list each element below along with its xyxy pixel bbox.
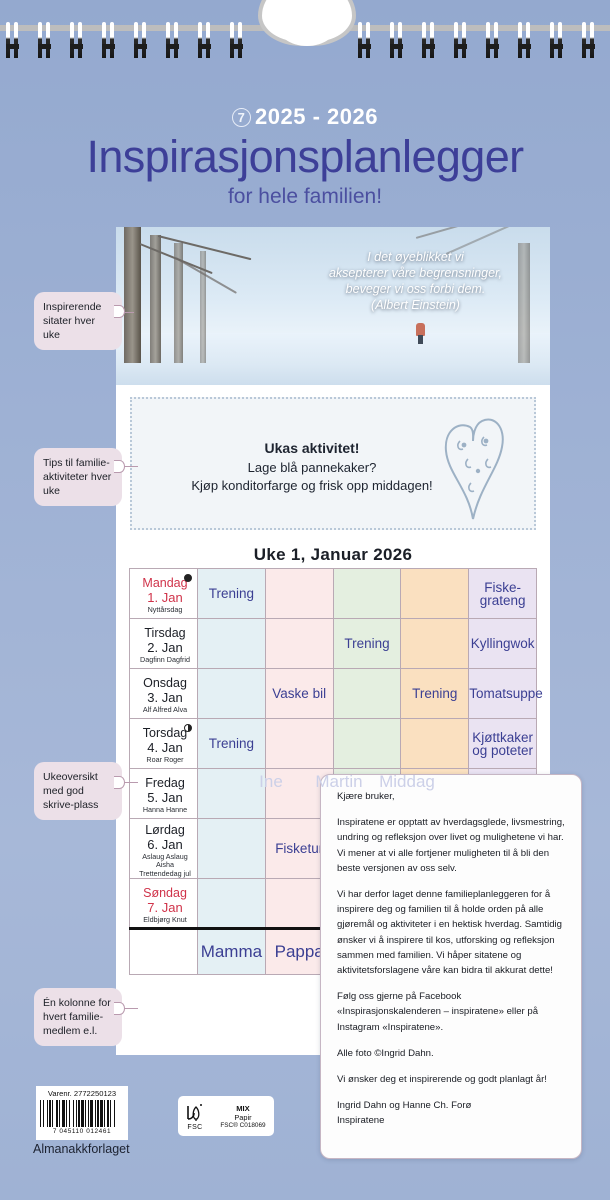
name-day: Nyttårsdag — [136, 606, 194, 614]
barcode-bars — [40, 1100, 124, 1127]
calendar-entry-cell[interactable] — [333, 569, 401, 619]
calendar-entry-cell[interactable] — [333, 669, 401, 719]
calendar-entry-cell[interactable] — [401, 619, 469, 669]
day-number: 7. Jan — [136, 900, 194, 915]
calendar-entry-cell[interactable] — [198, 619, 266, 669]
calendar-entry-cell[interactable] — [265, 619, 333, 669]
calendar-entry-cell[interactable]: Fiske-grateng — [469, 569, 537, 619]
spiral-coil — [6, 22, 19, 58]
seven-badge-icon: 7 — [232, 108, 251, 127]
fsc-papir-label: Papir — [212, 1113, 274, 1122]
name-day: Dagfinn Dagfrid — [136, 656, 194, 664]
name-row-spacer — [130, 929, 198, 975]
day-label-cell: Mandag1. JanNyttårsdag — [130, 569, 198, 619]
calendar-entry-cell[interactable]: Kjøttkakerog poteter — [469, 719, 537, 769]
calendar-entry-cell[interactable]: Trening — [198, 719, 266, 769]
day-number: 4. Jan — [136, 740, 194, 755]
callout-week-overview: Ukeoversikt med god skrive-plass — [34, 762, 122, 820]
calendar-row: Mandag1. JanNyttårsdagTreningFiske-grate… — [130, 569, 537, 619]
barcode-bar — [115, 1100, 117, 1127]
welcome-letter-overlay: Kjære bruker, Inspiratene er opptatt av … — [320, 774, 582, 1159]
day-label-cell: Onsdag3. JanAlf Alfred Alva — [130, 669, 198, 719]
year-range: 2025 - 2026 — [255, 104, 378, 129]
calendar-entry-cell[interactable] — [198, 819, 266, 879]
calendar-entry-cell[interactable] — [198, 769, 266, 819]
letter-signature-1: Ingrid Dahn og Hanne Ch. Forø — [337, 1098, 565, 1113]
spiral-coil — [358, 22, 371, 58]
calendar-entry-cell[interactable] — [265, 569, 333, 619]
callout-quotes-label: Inspirerende sitater hver uke — [43, 301, 101, 341]
family-member-name[interactable]: Mamma — [198, 929, 266, 975]
full-moon-icon — [184, 574, 192, 582]
winter-forest-photo: I det øyeblikket vi aksepterer våre begr… — [116, 227, 550, 385]
fsc-certification-box: FSC MIX Papir FSC® C018069 — [178, 1096, 274, 1136]
spiral-coil — [70, 22, 83, 58]
day-name: Tirsdag — [136, 626, 194, 640]
quote-line-1: I det øyeblikket vi — [293, 249, 538, 265]
page-title: Inspirasjonsplanlegger — [0, 132, 610, 182]
fsc-tree-icon — [178, 1102, 212, 1124]
weekly-activity-line1: Lage blå pannekaker? — [248, 460, 377, 475]
day-number: 6. Jan — [136, 837, 194, 852]
fsc-abbr: FSC — [178, 1124, 212, 1131]
name-day: Roar Roger — [136, 756, 194, 764]
person-in-snow — [416, 323, 425, 343]
calendar-entry-cell[interactable] — [401, 569, 469, 619]
fsc-text: MIX Papir FSC® C018069 — [212, 1104, 274, 1129]
calendar-row: Onsdag3. JanAlf Alfred AlvaVaske bilTren… — [130, 669, 537, 719]
weekly-activity-line2: Kjøp konditorfarge og frisk opp middagen… — [191, 478, 432, 493]
fsc-logo: FSC — [178, 1102, 212, 1131]
calendar-entry-cell[interactable] — [333, 719, 401, 769]
spiral-coil — [38, 22, 51, 58]
callout-quotes: Inspirerende sitater hver uke — [34, 292, 122, 350]
fsc-code-label: FSC® C018069 — [212, 1122, 274, 1129]
letter-paragraph-4: Alle foto ©Ingrid Dahn. — [337, 1046, 565, 1061]
inspirational-quote: I det øyeblikket vi aksepterer våre begr… — [293, 249, 538, 313]
day-number: 2. Jan — [136, 640, 194, 655]
spiral-coil — [102, 22, 115, 58]
name-day: Eldbjørg Knut — [136, 916, 194, 924]
name-day: Aslaug AslaugAishaTrettendedag jul — [136, 853, 194, 878]
spiral-coil — [422, 22, 435, 58]
callout-tips-label: Tips til familie-aktiviteter hver uke — [43, 457, 111, 497]
barcode-digits: 7 045110 012461 — [40, 1128, 124, 1135]
callout-week-overview-arrow — [114, 776, 125, 789]
spiral-coil — [486, 22, 499, 58]
year-line: 72025 - 2026 — [0, 104, 610, 130]
spiral-coil — [230, 22, 243, 58]
calendar-entry-cell[interactable] — [401, 719, 469, 769]
day-label-cell: Tirsdag2. JanDagfinn Dagfrid — [130, 619, 198, 669]
day-label-cell: Fredag5. JanHanna Hanne — [130, 769, 198, 819]
day-number: 5. Jan — [136, 790, 194, 805]
spiral-coil — [198, 22, 211, 58]
quote-line-3: beveger vi oss forbi dem. — [293, 281, 538, 297]
publisher-name: Almanakkforlaget — [33, 1142, 130, 1156]
spiral-coil — [582, 22, 595, 58]
last-quarter-moon-icon — [184, 724, 192, 732]
calendar-entry-cell[interactable]: Kyllingwok — [469, 619, 537, 669]
letter-paragraph-3: Følg oss gjerne på Facebook «Inspirasjon… — [337, 989, 565, 1035]
letter-greeting: Kjære bruker, — [337, 789, 565, 804]
day-name: Fredag — [136, 776, 194, 790]
day-label-cell: Torsdag4. JanRoar Roger — [130, 719, 198, 769]
hanger-tab-inner — [276, 0, 338, 46]
spiral-coil — [390, 22, 403, 58]
page-subtitle: for hele familien! — [0, 185, 610, 209]
calendar-entry-cell[interactable]: Tomatsuppe — [469, 669, 537, 719]
calendar-entry-cell[interactable] — [265, 719, 333, 769]
title-block: 72025 - 2026 Inspirasjonsplanlegger for … — [0, 104, 610, 209]
letter-signature-2: Inspiratene — [337, 1113, 565, 1128]
day-label-cell: Søndag7. JanEldbjørg Knut — [130, 879, 198, 929]
calendar-entry-cell[interactable]: Vaske bil — [265, 669, 333, 719]
letter-paragraph-2: Vi har derfor laget denne familieplanleg… — [337, 887, 565, 978]
day-name: Onsdag — [136, 676, 194, 690]
day-name: Søndag — [136, 886, 194, 900]
weekly-activity-title: Ukas aktivitet! — [162, 439, 462, 457]
spiral-coil — [518, 22, 531, 58]
spiral-coil — [454, 22, 467, 58]
callout-family-column-label: Én kolonne for hvert familie-medlem e.l. — [43, 997, 111, 1037]
calendar-entry-cell[interactable] — [198, 879, 266, 929]
item-number-label: Varenr. 2772250123 — [40, 1089, 124, 1098]
quote-attribution: (Albert Einstein) — [293, 297, 538, 313]
decorative-heart-icon — [438, 411, 508, 523]
letter-paragraph-1: Inspiratene er opptatt av hverdagsglede,… — [337, 815, 565, 876]
quote-line-2: aksepterer våre begrensninger, — [293, 265, 538, 281]
calendar-entry-cell[interactable]: Trening — [333, 619, 401, 669]
day-number: 3. Jan — [136, 690, 194, 705]
calendar-row: Tirsdag2. JanDagfinn DagfridTreningKylli… — [130, 619, 537, 669]
callout-tips: Tips til familie-aktiviteter hver uke — [34, 448, 122, 506]
barcode-box: Varenr. 2772250123 7 045110 012461 — [36, 1086, 128, 1140]
day-number: 1. Jan — [136, 590, 194, 605]
calendar-entry-cell[interactable]: Trening — [198, 569, 266, 619]
callout-week-overview-label: Ukeoversikt med god skrive-plass — [43, 771, 98, 811]
fsc-mix-label: MIX — [212, 1104, 274, 1113]
spiral-coil — [166, 22, 179, 58]
week-title: Uke 1, Januar 2026 — [116, 545, 550, 565]
callout-tips-arrow — [114, 460, 125, 473]
weekly-activity-box: Ukas aktivitet! Lage blå pannekaker? Kjø… — [130, 397, 536, 530]
calendar-entry-cell[interactable] — [198, 669, 266, 719]
name-day: Alf Alfred Alva — [136, 706, 194, 714]
day-name: Lørdag — [136, 823, 194, 837]
callout-quotes-arrow — [114, 305, 125, 318]
spiral-coil — [134, 22, 147, 58]
spiral-coil — [550, 22, 563, 58]
weekly-activity-text: Ukas aktivitet! Lage blå pannekaker? Kjø… — [162, 439, 462, 495]
callout-family-column-arrow — [114, 1002, 125, 1015]
day-label-cell: Lørdag6. JanAslaug AslaugAishaTrettended… — [130, 819, 198, 879]
letter-paragraph-5: Vi ønsker deg et inspirerende og godt pl… — [337, 1072, 565, 1087]
calendar-entry-cell[interactable]: Trening — [401, 669, 469, 719]
callout-family-column: Én kolonne for hvert familie-medlem e.l. — [34, 988, 122, 1046]
calendar-row: Torsdag4. JanRoar RogerTreningKjøttkaker… — [130, 719, 537, 769]
name-day: Hanna Hanne — [136, 806, 194, 814]
